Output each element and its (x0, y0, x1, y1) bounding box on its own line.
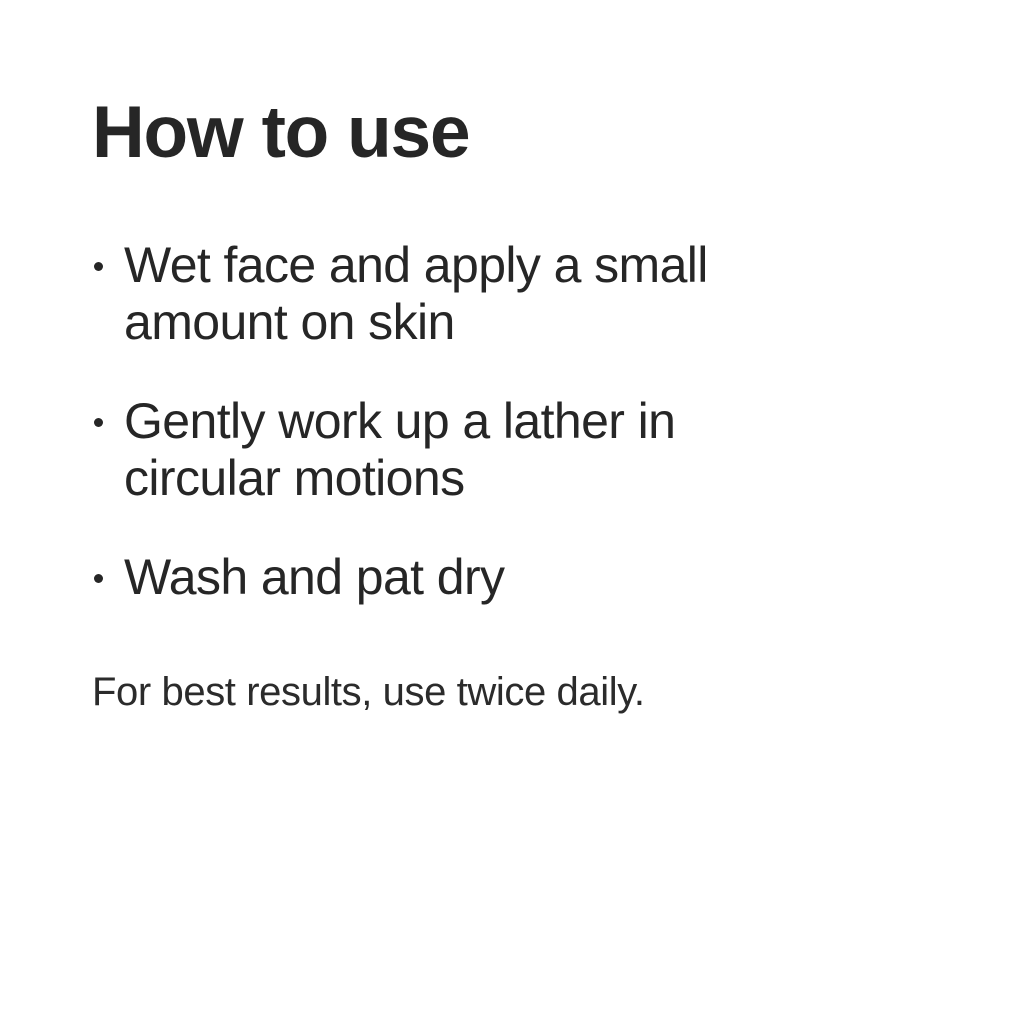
list-item-label: Wash and pat dry (124, 549, 764, 606)
list-item: Wet face and apply a small amount on ski… (92, 237, 764, 351)
list-item: Wash and pat dry (92, 549, 764, 606)
instruction-card: How to use Wet face and apply a small am… (0, 0, 1024, 1024)
bullet-dot-icon (94, 262, 103, 271)
list-item-label: Gently work up a lather in circular moti… (124, 393, 764, 507)
bullet-dot-icon (94, 574, 103, 583)
list-item-label: Wet face and apply a small amount on ski… (124, 237, 764, 351)
card-content: How to use Wet face and apply a small am… (92, 96, 792, 756)
bullet-dot-icon (94, 418, 103, 427)
footnote-text: For best results, use twice daily. (92, 668, 792, 716)
steps-list: Wet face and apply a small amount on ski… (92, 237, 792, 606)
list-item: Gently work up a lather in circular moti… (92, 393, 764, 507)
page-title: How to use (92, 96, 792, 169)
